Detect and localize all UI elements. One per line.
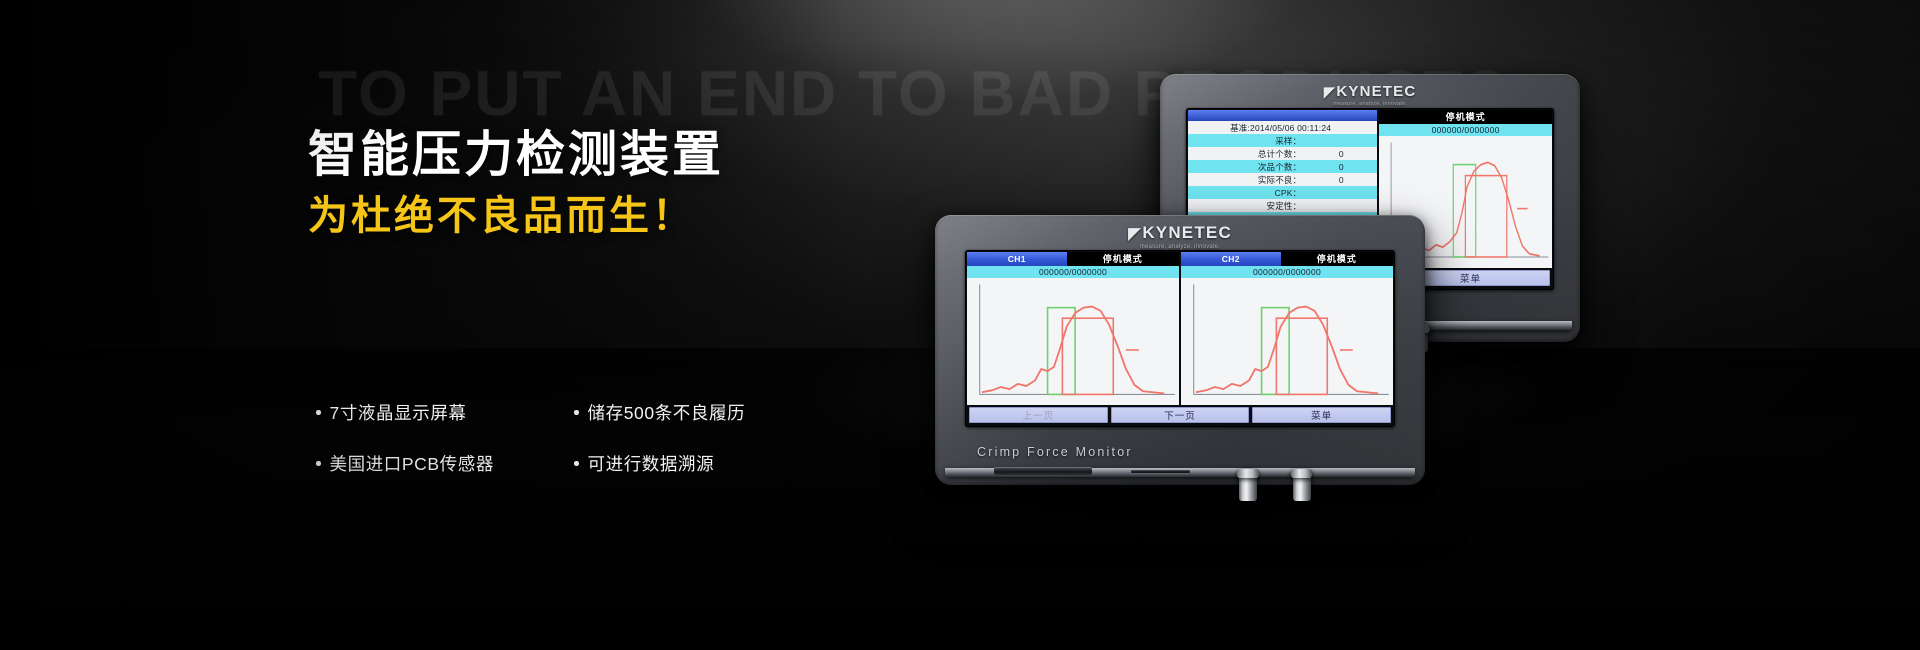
prev-page-button[interactable]: 上一页 [969, 407, 1108, 423]
front-pane-ch2: CH2 停机模式 000000/0000000 [1181, 252, 1393, 405]
front-device: ◤KYNETEC measure. analyze. innovate. CH1… [935, 215, 1425, 485]
front-lcd: CH1 停机模式 000000/0000000 [967, 252, 1393, 425]
rear-counter: 000000/0000000 [1379, 124, 1552, 136]
table-row-value: 0 [1305, 175, 1377, 185]
table-row-label: 实际不良： [1188, 174, 1305, 186]
ch2-waveform-svg [1181, 278, 1393, 405]
ch2-label: CH2 [1181, 252, 1281, 266]
front-brand-name: KYNETEC [1142, 223, 1232, 242]
table-row-label: 安定性： [1188, 200, 1305, 212]
front-brand-tagline: measure. analyze. innovate. [935, 244, 1425, 250]
rear-table-header [1188, 110, 1377, 121]
rear-brand-tagline: measure. analyze. innovate. [1160, 102, 1580, 108]
ch2-counter: 000000/0000000 [1181, 266, 1393, 278]
table-row: 安定性： [1188, 199, 1377, 212]
table-row-label: 次品个数： [1188, 161, 1305, 173]
table-row: 实际不良： 0 [1188, 173, 1377, 186]
ch1-label: CH1 [967, 252, 1067, 266]
front-model-label: Crimp Force Monitor [977, 445, 1133, 459]
table-row: 总计个数： 0 [1188, 147, 1377, 160]
front-panes: CH1 停机模式 000000/0000000 [967, 252, 1393, 405]
front-pane-ch1: CH1 停机模式 000000/0000000 [967, 252, 1179, 405]
table-row-value: 0 [1305, 162, 1377, 172]
table-row-label: 采样： [1188, 135, 1305, 147]
table-row: 基准:2014/05/06 00:11:24 [1188, 121, 1377, 134]
ch1-counter: 000000/0000000 [967, 266, 1179, 278]
table-row-label: 基准:2014/05/06 00:11:24 [1188, 122, 1377, 134]
kynetec-k-mark: ◤ [1128, 225, 1142, 242]
rear-brand-name: KYNETEC [1336, 83, 1416, 100]
rear-waveform-topbar: 停机模式 [1379, 110, 1552, 124]
menu-button[interactable]: 菜单 [1252, 407, 1391, 423]
front-card-slot[interactable] [1131, 470, 1190, 473]
next-page-button[interactable]: 下一页 [1111, 407, 1250, 423]
ch1-mode-label: 停机模式 [1067, 252, 1179, 266]
ch2-mode-label: 停机模式 [1281, 252, 1393, 266]
kynetec-k-mark: ◤ [1324, 85, 1337, 100]
front-bnc-connector-2[interactable] [1293, 471, 1311, 501]
table-row: 采样： [1188, 134, 1377, 147]
ch1-waveform-plot [967, 278, 1179, 405]
table-row-label: 总计个数： [1188, 148, 1305, 160]
ch1-waveform-svg [967, 278, 1179, 405]
front-bnc-collar-2 [1291, 469, 1313, 478]
table-row-label: CPK： [1188, 187, 1305, 199]
banner-stage: TO PUT AN END TO BAD PRODUCTS ◤KYNETEC m… [0, 0, 1920, 650]
table-row: 次品个数： 0 [1188, 160, 1377, 173]
ch2-waveform-plot [1181, 278, 1393, 405]
front-device-brand: ◤KYNETEC measure. analyze. innovate. [935, 224, 1425, 250]
front-button-bar: 上一页 下一页 菜单 [967, 405, 1393, 425]
table-row: CPK： [1188, 186, 1377, 199]
front-dsub-port[interactable] [994, 467, 1092, 475]
rear-device-brand: ◤KYNETEC measure. analyze. innovate. [1160, 84, 1580, 108]
ch2-topbar: CH2 停机模式 [1181, 252, 1393, 266]
table-row-value: 0 [1305, 149, 1377, 159]
front-bnc-collar-1 [1237, 469, 1259, 478]
front-device-screen[interactable]: CH1 停机模式 000000/0000000 [965, 250, 1395, 427]
ch1-topbar: CH1 停机模式 [967, 252, 1179, 266]
front-bnc-connector-1[interactable] [1239, 471, 1257, 501]
rear-mode-label: 停机模式 [1379, 110, 1552, 124]
